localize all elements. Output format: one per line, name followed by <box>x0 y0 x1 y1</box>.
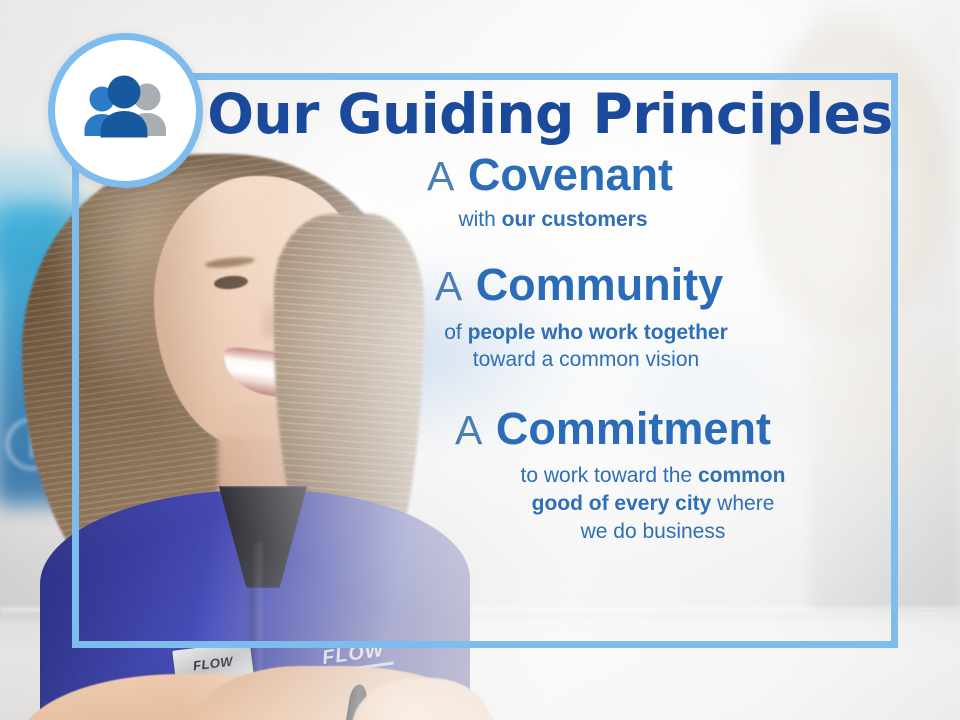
subtext-line: good of every city where <box>406 490 900 518</box>
people-group-icon <box>55 40 196 181</box>
principle-noun: Covenant <box>468 149 673 200</box>
guiding-principles-graphic: FLOW FLOW Our Guiding Pr <box>0 0 960 720</box>
principle-subtext-commitment: to work toward the common good of every … <box>200 462 900 545</box>
subtext-line: of people who work together <box>272 319 900 347</box>
principle-heading-community: A Community <box>200 260 900 310</box>
sub-part-bold: people who work together <box>468 321 728 344</box>
sub-part-bold: our customers <box>502 208 648 231</box>
principle-community: A Community of people who work together … <box>200 260 900 374</box>
sub-part-bold: good of every city <box>532 492 712 515</box>
page-title: Our Guiding Principles <box>200 86 900 142</box>
people-badge <box>48 33 203 188</box>
principle-covenant: A Covenant with our customers <box>200 150 900 234</box>
sub-part-plain: with <box>458 208 501 231</box>
principle-heading-commitment: A Commitment <box>200 404 900 454</box>
article-word: A <box>455 407 483 453</box>
principle-subtext-covenant: with our customers <box>200 206 900 234</box>
sub-part-plain: where <box>711 492 774 515</box>
article-word: A <box>427 153 455 199</box>
principle-commitment: A Commitment to work toward the common g… <box>200 404 900 546</box>
principle-heading-covenant: A Covenant <box>200 150 900 200</box>
sub-part-plain: of <box>444 321 467 344</box>
principle-subtext-community: of people who work together toward a com… <box>200 319 900 374</box>
sub-part-plain: to work toward the <box>521 464 698 487</box>
principles-content: Our Guiding Principles A Covenant with o… <box>200 86 900 546</box>
article-word: A <box>435 263 463 309</box>
principle-noun: Commitment <box>496 403 771 454</box>
subtext-line: we do business <box>406 518 900 546</box>
subtext-line: toward a common vision <box>272 346 900 374</box>
subtext-line: to work toward the common <box>406 462 900 490</box>
sub-part-bold: common <box>698 464 786 487</box>
principle-noun: Community <box>476 259 724 310</box>
